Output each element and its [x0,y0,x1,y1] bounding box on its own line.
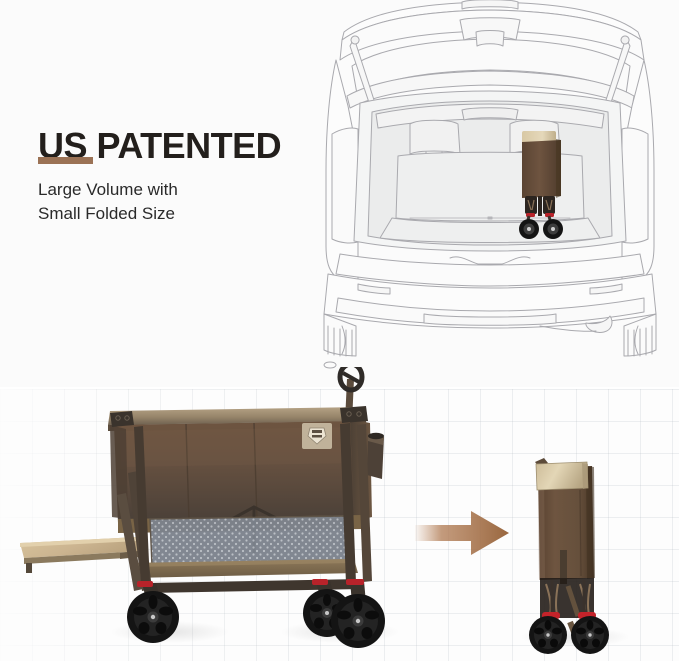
wagon-unfolded-side-view [10,367,395,657]
brand-badge [302,423,332,449]
wagon-folded-upright [522,454,614,654]
folded-wheel-left [529,616,567,654]
folded-wheel-right [571,616,609,654]
subtitle: Large Volume with Small Folded Size [38,178,318,226]
side-table [20,537,142,573]
title-underline-accent [38,157,93,164]
product-feature-image: US PATENTED Large Volume with Small Fold… [0,0,679,661]
top-panel: US PATENTED Large Volume with Small Fold… [0,0,679,388]
headline-wrap: US PATENTED [38,128,318,164]
suv-illustration [300,0,679,376]
folded-wagon-in-trunk [519,130,568,242]
transform-arrow [415,509,510,557]
cup-holder [367,433,384,479]
bottom-panel [0,389,679,661]
headline-block: US PATENTED Large Volume with Small Fold… [38,128,318,226]
